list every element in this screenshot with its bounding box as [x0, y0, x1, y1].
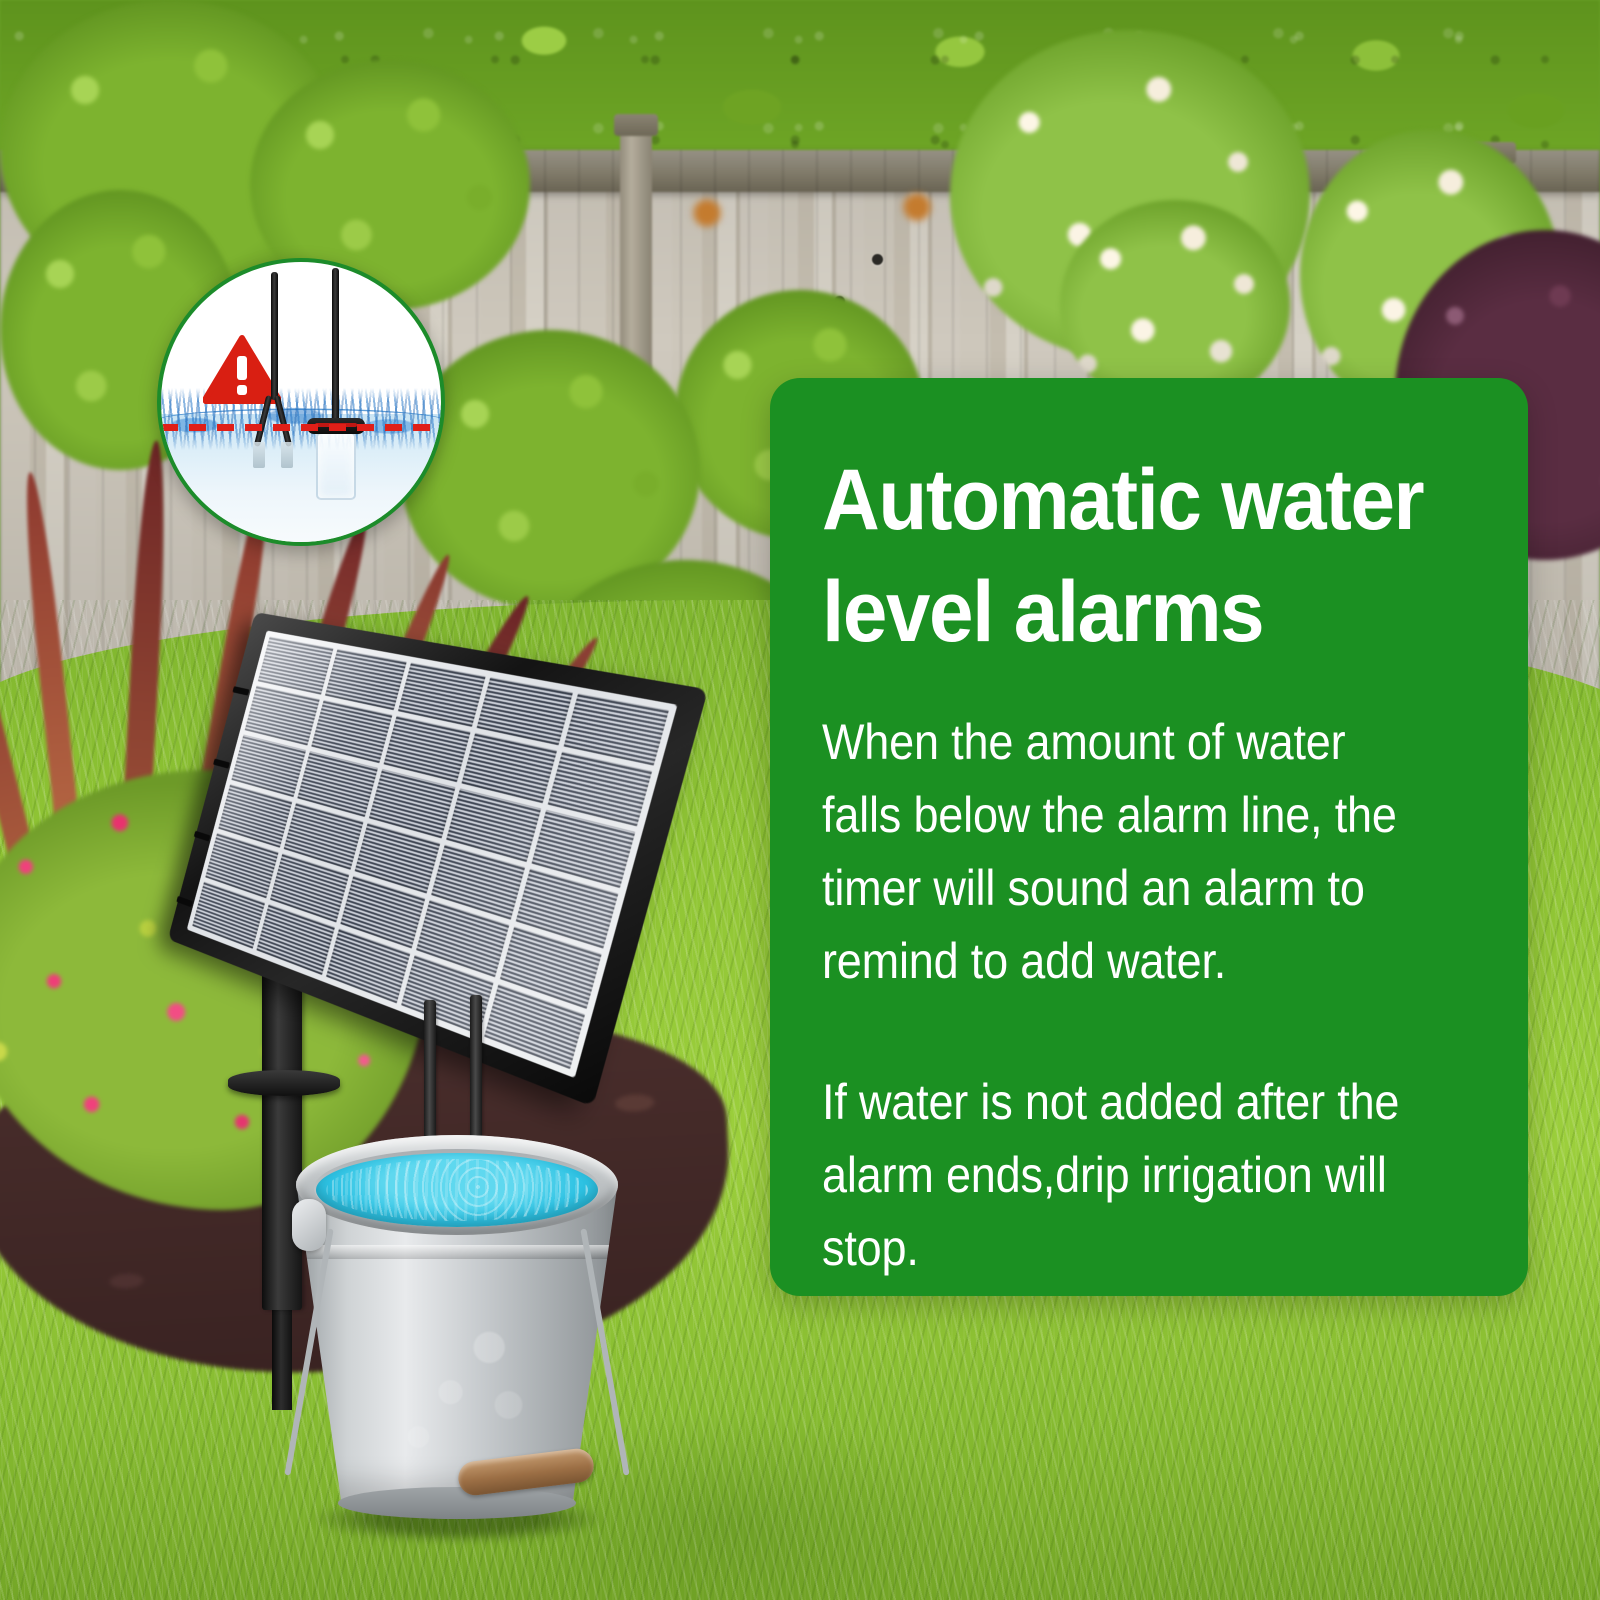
water-level-sensor-inset [157, 258, 445, 546]
panel-pole-flange [228, 1070, 340, 1096]
probe-tip [281, 442, 293, 468]
garden-scene: Automatic water level alarms When the am… [0, 0, 1600, 1600]
inset-water-splash [157, 388, 445, 450]
card-title: Automatic water level alarms [822, 444, 1425, 668]
water-bucket [272, 1135, 642, 1535]
card-paragraph-2: If water is not added after the alarm en… [822, 1066, 1405, 1285]
bucket-base [338, 1487, 576, 1519]
float-sensor-cable [332, 268, 339, 424]
fence-rust-stain [690, 196, 724, 230]
solar-panel [168, 612, 708, 1107]
bucket-water [316, 1153, 598, 1227]
fence-rust-stain [900, 190, 934, 224]
feature-card: Automatic water level alarms When the am… [770, 378, 1528, 1296]
fence-nail-hole [872, 254, 883, 265]
probe-cable [271, 272, 278, 400]
float-sensor-body [316, 432, 356, 500]
alarm-line [161, 424, 441, 431]
warning-triangle-icon [203, 334, 281, 404]
bucket-handle-ear [292, 1199, 326, 1251]
card-paragraph-1: When the amount of water falls below the… [822, 706, 1405, 998]
probe-tip [253, 442, 265, 468]
solar-panel-frame [168, 612, 708, 1107]
